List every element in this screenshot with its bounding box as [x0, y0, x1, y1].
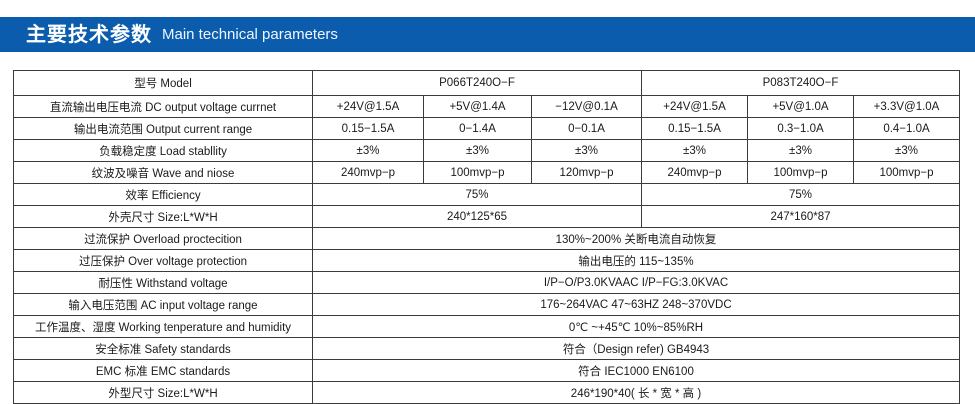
- row-label: 外型尺寸 Size:L*W*H: [14, 382, 313, 404]
- row-cell-group: 75%: [313, 184, 642, 206]
- table-row: 外壳尺寸 Size:L*W*H 240*125*65 247*160*87: [14, 206, 960, 228]
- row-label: 耐压性 Withstand voltage: [14, 272, 313, 294]
- row-label: EMC 标准 EMC standards: [14, 360, 313, 382]
- table-row: 安全标准 Safety standards 符合（Design refer) G…: [14, 338, 960, 360]
- row-cell: 100mvp−p: [424, 162, 532, 184]
- row-cell: ±3%: [748, 140, 854, 162]
- row-cell-full: 0℃ ~+45℃ 10%~85%RH: [313, 316, 960, 338]
- row-label: 纹波及噪音 Wave and niose: [14, 162, 313, 184]
- model-header-1: P066T240O−F: [313, 71, 642, 96]
- row-cell: ±3%: [854, 140, 960, 162]
- row-label: 负载稳定度 Load stabllity: [14, 140, 313, 162]
- row-cell: ±3%: [424, 140, 532, 162]
- row-cell-group: 240*125*65: [313, 206, 642, 228]
- row-cell: +5V@1.0A: [748, 96, 854, 118]
- row-label: 过流保护 Overload proctecition: [14, 228, 313, 250]
- spec-table-container: 型号 Model P066T240O−F P083T240O−F 直流输出电压电…: [13, 70, 959, 404]
- table-header-row: 型号 Model P066T240O−F P083T240O−F: [14, 71, 960, 96]
- table-row: 耐压性 Withstand voltage I/P−O/P3.0KVAAC I/…: [14, 272, 960, 294]
- banner-title-cn: 主要技术参数: [26, 25, 152, 45]
- row-cell: +3.3V@1.0A: [854, 96, 960, 118]
- row-cell: 0.15−1.5A: [642, 118, 748, 140]
- table-row: 过流保护 Overload proctecition 130%~200% 关断电…: [14, 228, 960, 250]
- table-row: 输出电流范围 Output current range 0.15−1.5A 0−…: [14, 118, 960, 140]
- row-cell: 0.3−1.0A: [748, 118, 854, 140]
- row-label: 输入电压范围 AC input voltage range: [14, 294, 313, 316]
- row-label: 过压保护 Over voltage protection: [14, 250, 313, 272]
- row-cell: ±3%: [642, 140, 748, 162]
- banner-title-en: Main technical parameters: [162, 27, 338, 42]
- row-cell: 100mvp−p: [854, 162, 960, 184]
- row-cell: +24V@1.5A: [313, 96, 424, 118]
- row-cell: 0.4−1.0A: [854, 118, 960, 140]
- table-row: 过压保护 Over voltage protection 输出电压的 115~1…: [14, 250, 960, 272]
- row-cell-full: 246*190*40( 长 * 宽 * 高 ): [313, 382, 960, 404]
- row-cell: 120mvp−p: [532, 162, 642, 184]
- technical-parameters-table: 型号 Model P066T240O−F P083T240O−F 直流输出电压电…: [13, 70, 960, 404]
- row-cell: 240mvp−p: [313, 162, 424, 184]
- row-label: 工作温度、湿度 Working tenperature and humidity: [14, 316, 313, 338]
- table-row: 负载稳定度 Load stabllity ±3% ±3% ±3% ±3% ±3%…: [14, 140, 960, 162]
- row-cell: 240mvp−p: [642, 162, 748, 184]
- row-cell: 0−1.4A: [424, 118, 532, 140]
- table-row: 效率 Efficiency 75% 75%: [14, 184, 960, 206]
- row-cell-full: 输出电压的 115~135%: [313, 250, 960, 272]
- table-row: 工作温度、湿度 Working tenperature and humidity…: [14, 316, 960, 338]
- header-label-cell: 型号 Model: [14, 71, 313, 96]
- row-label: 直流输出电压电流 DC output voltage currnet: [14, 96, 313, 118]
- row-cell: 100mvp−p: [748, 162, 854, 184]
- row-cell-group: 75%: [642, 184, 960, 206]
- row-cell-full: 176~264VAC 47~63HZ 248~370VDC: [313, 294, 960, 316]
- table-row: 纹波及噪音 Wave and niose 240mvp−p 100mvp−p 1…: [14, 162, 960, 184]
- table-row: 输入电压范围 AC input voltage range 176~264VAC…: [14, 294, 960, 316]
- row-cell: −12V@0.1A: [532, 96, 642, 118]
- spec-table-body: 型号 Model P066T240O−F P083T240O−F 直流输出电压电…: [14, 71, 960, 404]
- row-label: 安全标准 Safety standards: [14, 338, 313, 360]
- table-row: 直流输出电压电流 DC output voltage currnet +24V@…: [14, 96, 960, 118]
- row-cell: 0−0.1A: [532, 118, 642, 140]
- row-cell-full: I/P−O/P3.0KVAAC I/P−FG:3.0KVAC: [313, 272, 960, 294]
- row-cell-group: 247*160*87: [642, 206, 960, 228]
- row-label: 外壳尺寸 Size:L*W*H: [14, 206, 313, 228]
- model-header-2: P083T240O−F: [642, 71, 960, 96]
- row-cell: ±3%: [532, 140, 642, 162]
- row-label: 输出电流范围 Output current range: [14, 118, 313, 140]
- row-cell-full: 符合 IEC1000 EN6100: [313, 360, 960, 382]
- row-cell: +5V@1.4A: [424, 96, 532, 118]
- table-row: EMC 标准 EMC standards 符合 IEC1000 EN6100: [14, 360, 960, 382]
- row-cell: +24V@1.5A: [642, 96, 748, 118]
- row-label: 效率 Efficiency: [14, 184, 313, 206]
- row-cell-full: 130%~200% 关断电流自动恢复: [313, 228, 960, 250]
- row-cell: 0.15−1.5A: [313, 118, 424, 140]
- row-cell-full: 符合（Design refer) GB4943: [313, 338, 960, 360]
- row-cell: ±3%: [313, 140, 424, 162]
- table-row: 外型尺寸 Size:L*W*H 246*190*40( 长 * 宽 * 高 ): [14, 382, 960, 404]
- section-banner: 主要技术参数 Main technical parameters: [0, 17, 975, 52]
